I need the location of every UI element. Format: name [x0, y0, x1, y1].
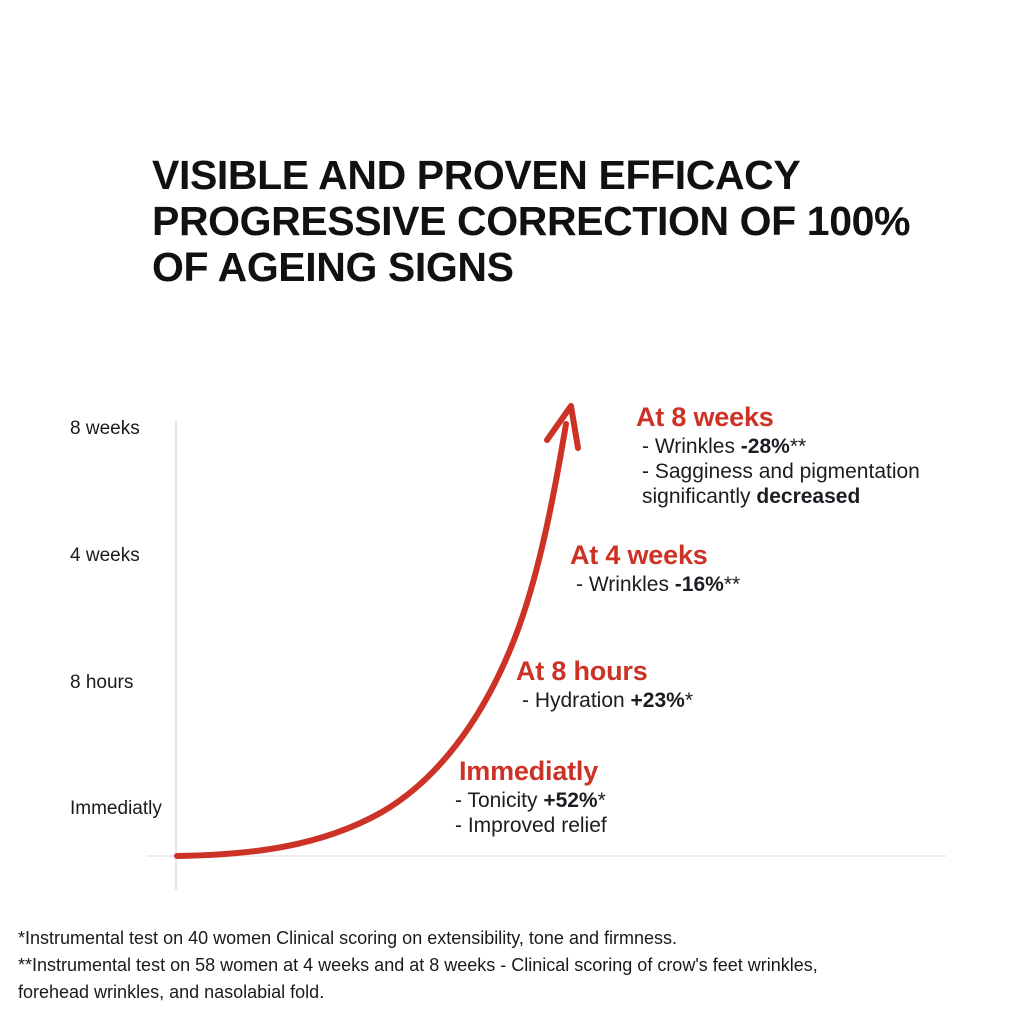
callout-4-weeks-line-1-value: -16%: [675, 573, 724, 596]
callout-8-weeks-line-3: significantly decreased: [642, 484, 920, 509]
footnote-single-asterisk: *Instrumental test on 40 women Clinical …: [18, 925, 978, 952]
callout-8-hours-heading: At 8 hours: [516, 656, 693, 687]
callout-8-weeks-line-3-prefix: significantly: [642, 485, 756, 508]
callout-8-hours-line-1-footnote-marker: *: [685, 689, 693, 712]
footnote-double-asterisk: **Instrumental test on 58 women at 4 wee…: [18, 952, 978, 979]
callout-8-hours-line-1-value: +23%: [631, 689, 685, 712]
footnotes: *Instrumental test on 40 women Clinical …: [18, 925, 978, 1006]
callout-8-weeks-line-2: - Sagginess and pigmentation: [642, 459, 920, 484]
callout-8-hours: At 8 hours - Hydration +23%*: [512, 656, 693, 713]
callout-8-weeks: At 8 weeks - Wrinkles -28%** - Sagginess…: [632, 402, 920, 509]
callout-8-hours-line-1-prefix: - Hydration: [522, 689, 631, 712]
callout-immediatly: Immediatly - Tonicity +52%* - Improved r…: [455, 756, 607, 838]
callout-4-weeks-line-1-footnote-marker: **: [724, 573, 740, 596]
efficacy-infographic: VISIBLE AND PROVEN EFFICACY PROGRESSIVE …: [0, 0, 1024, 1024]
y-axis-tick-4-weeks: 4 weeks: [70, 545, 1024, 567]
callout-immediatly-body: - Tonicity +52%* - Improved relief: [455, 788, 607, 838]
callout-4-weeks-heading: At 4 weeks: [570, 540, 740, 571]
callout-4-weeks: At 4 weeks - Wrinkles -16%**: [566, 540, 740, 597]
callout-immediatly-line-2: - Improved relief: [455, 813, 607, 838]
callout-immediatly-line-1-footnote-marker: *: [598, 789, 606, 812]
callout-8-weeks-body: - Wrinkles -28%** - Sagginess and pigmen…: [642, 434, 920, 509]
callout-immediatly-line-1-prefix: - Tonicity: [455, 789, 543, 812]
callout-8-weeks-line-1: - Wrinkles -28%**: [642, 434, 920, 459]
callout-8-hours-line-1: - Hydration +23%*: [522, 688, 693, 713]
callout-8-weeks-line-1-value: -28%: [741, 435, 790, 458]
efficacy-chart: Immediatly 8 hours 4 weeks 8 weeks At 8 …: [0, 0, 1024, 1024]
growth-curve: [0, 0, 1024, 1024]
callout-8-hours-body: - Hydration +23%*: [522, 688, 693, 713]
callout-immediatly-heading: Immediatly: [459, 756, 607, 787]
callout-immediatly-line-1-value: +52%: [543, 789, 597, 812]
callout-8-weeks-line-3-emphasis: decreased: [756, 485, 860, 508]
footnote-double-asterisk-continued: forehead wrinkles, and nasolabial fold.: [18, 979, 978, 1006]
callout-8-weeks-heading: At 8 weeks: [636, 402, 920, 433]
callout-4-weeks-body: - Wrinkles -16%**: [576, 572, 740, 597]
callout-8-weeks-line-1-prefix: - Wrinkles: [642, 435, 741, 458]
callout-immediatly-line-1: - Tonicity +52%*: [455, 788, 607, 813]
callout-4-weeks-line-1-prefix: - Wrinkles: [576, 573, 675, 596]
callout-4-weeks-line-1: - Wrinkles -16%**: [576, 572, 740, 597]
callout-8-weeks-line-1-footnote-marker: **: [790, 435, 806, 458]
